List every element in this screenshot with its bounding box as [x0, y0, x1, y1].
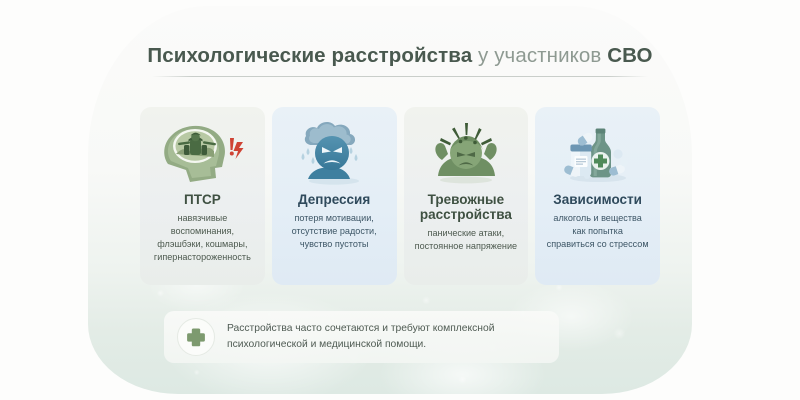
head-with-soldier-icon: [156, 116, 248, 190]
summary-note-text: Расстройства часто сочетаются и требуют …: [227, 321, 494, 353]
title-part-secondary: у участников: [472, 44, 607, 67]
card-title: Зависимости: [553, 192, 642, 207]
card-title: ПТСР: [184, 192, 221, 207]
card-title: Тревожные расстройства: [404, 192, 529, 222]
stressed-person-icon: [420, 116, 512, 190]
medical-cross-icon: [177, 318, 215, 356]
card-addiction[interactable]: Зависимости алкоголь и вещества как попы…: [535, 107, 660, 285]
card-ptsr[interactable]: ПТСР навязчивые воспоминания, флэшбэки, …: [140, 107, 265, 285]
card-description: алкоголь и вещества как попытка справить…: [542, 212, 654, 251]
bottle-pills-icon: [552, 116, 644, 190]
card-title: Депрессия: [298, 192, 370, 207]
page-title: Психологические расстройства у участнико…: [0, 44, 800, 68]
sad-face-rain-cloud-icon: [288, 116, 380, 190]
infographic-canvas: Психологические расстройства у участнико…: [0, 0, 800, 400]
card-depression[interactable]: Депрессия потеря мотивации, отсутствие р…: [272, 107, 397, 285]
card-description: навязчивые воспоминания, флэшбэки, кошма…: [149, 212, 256, 264]
card-anxiety[interactable]: Тревожные расстройства панические атаки,…: [404, 107, 529, 285]
title-part-primary: Психологические расстройства: [147, 44, 472, 67]
summary-note: Расстройства часто сочетаются и требуют …: [164, 311, 559, 363]
card-description: потеря мотивации, отсутствие радости, чу…: [287, 212, 382, 251]
title-divider: [152, 76, 648, 77]
disorder-card-list: ПТСР навязчивые воспоминания, флэшбэки, …: [140, 107, 660, 285]
card-description: панические атаки, постоянное напряжение: [410, 227, 522, 253]
title-part-accent: СВО: [607, 44, 652, 67]
